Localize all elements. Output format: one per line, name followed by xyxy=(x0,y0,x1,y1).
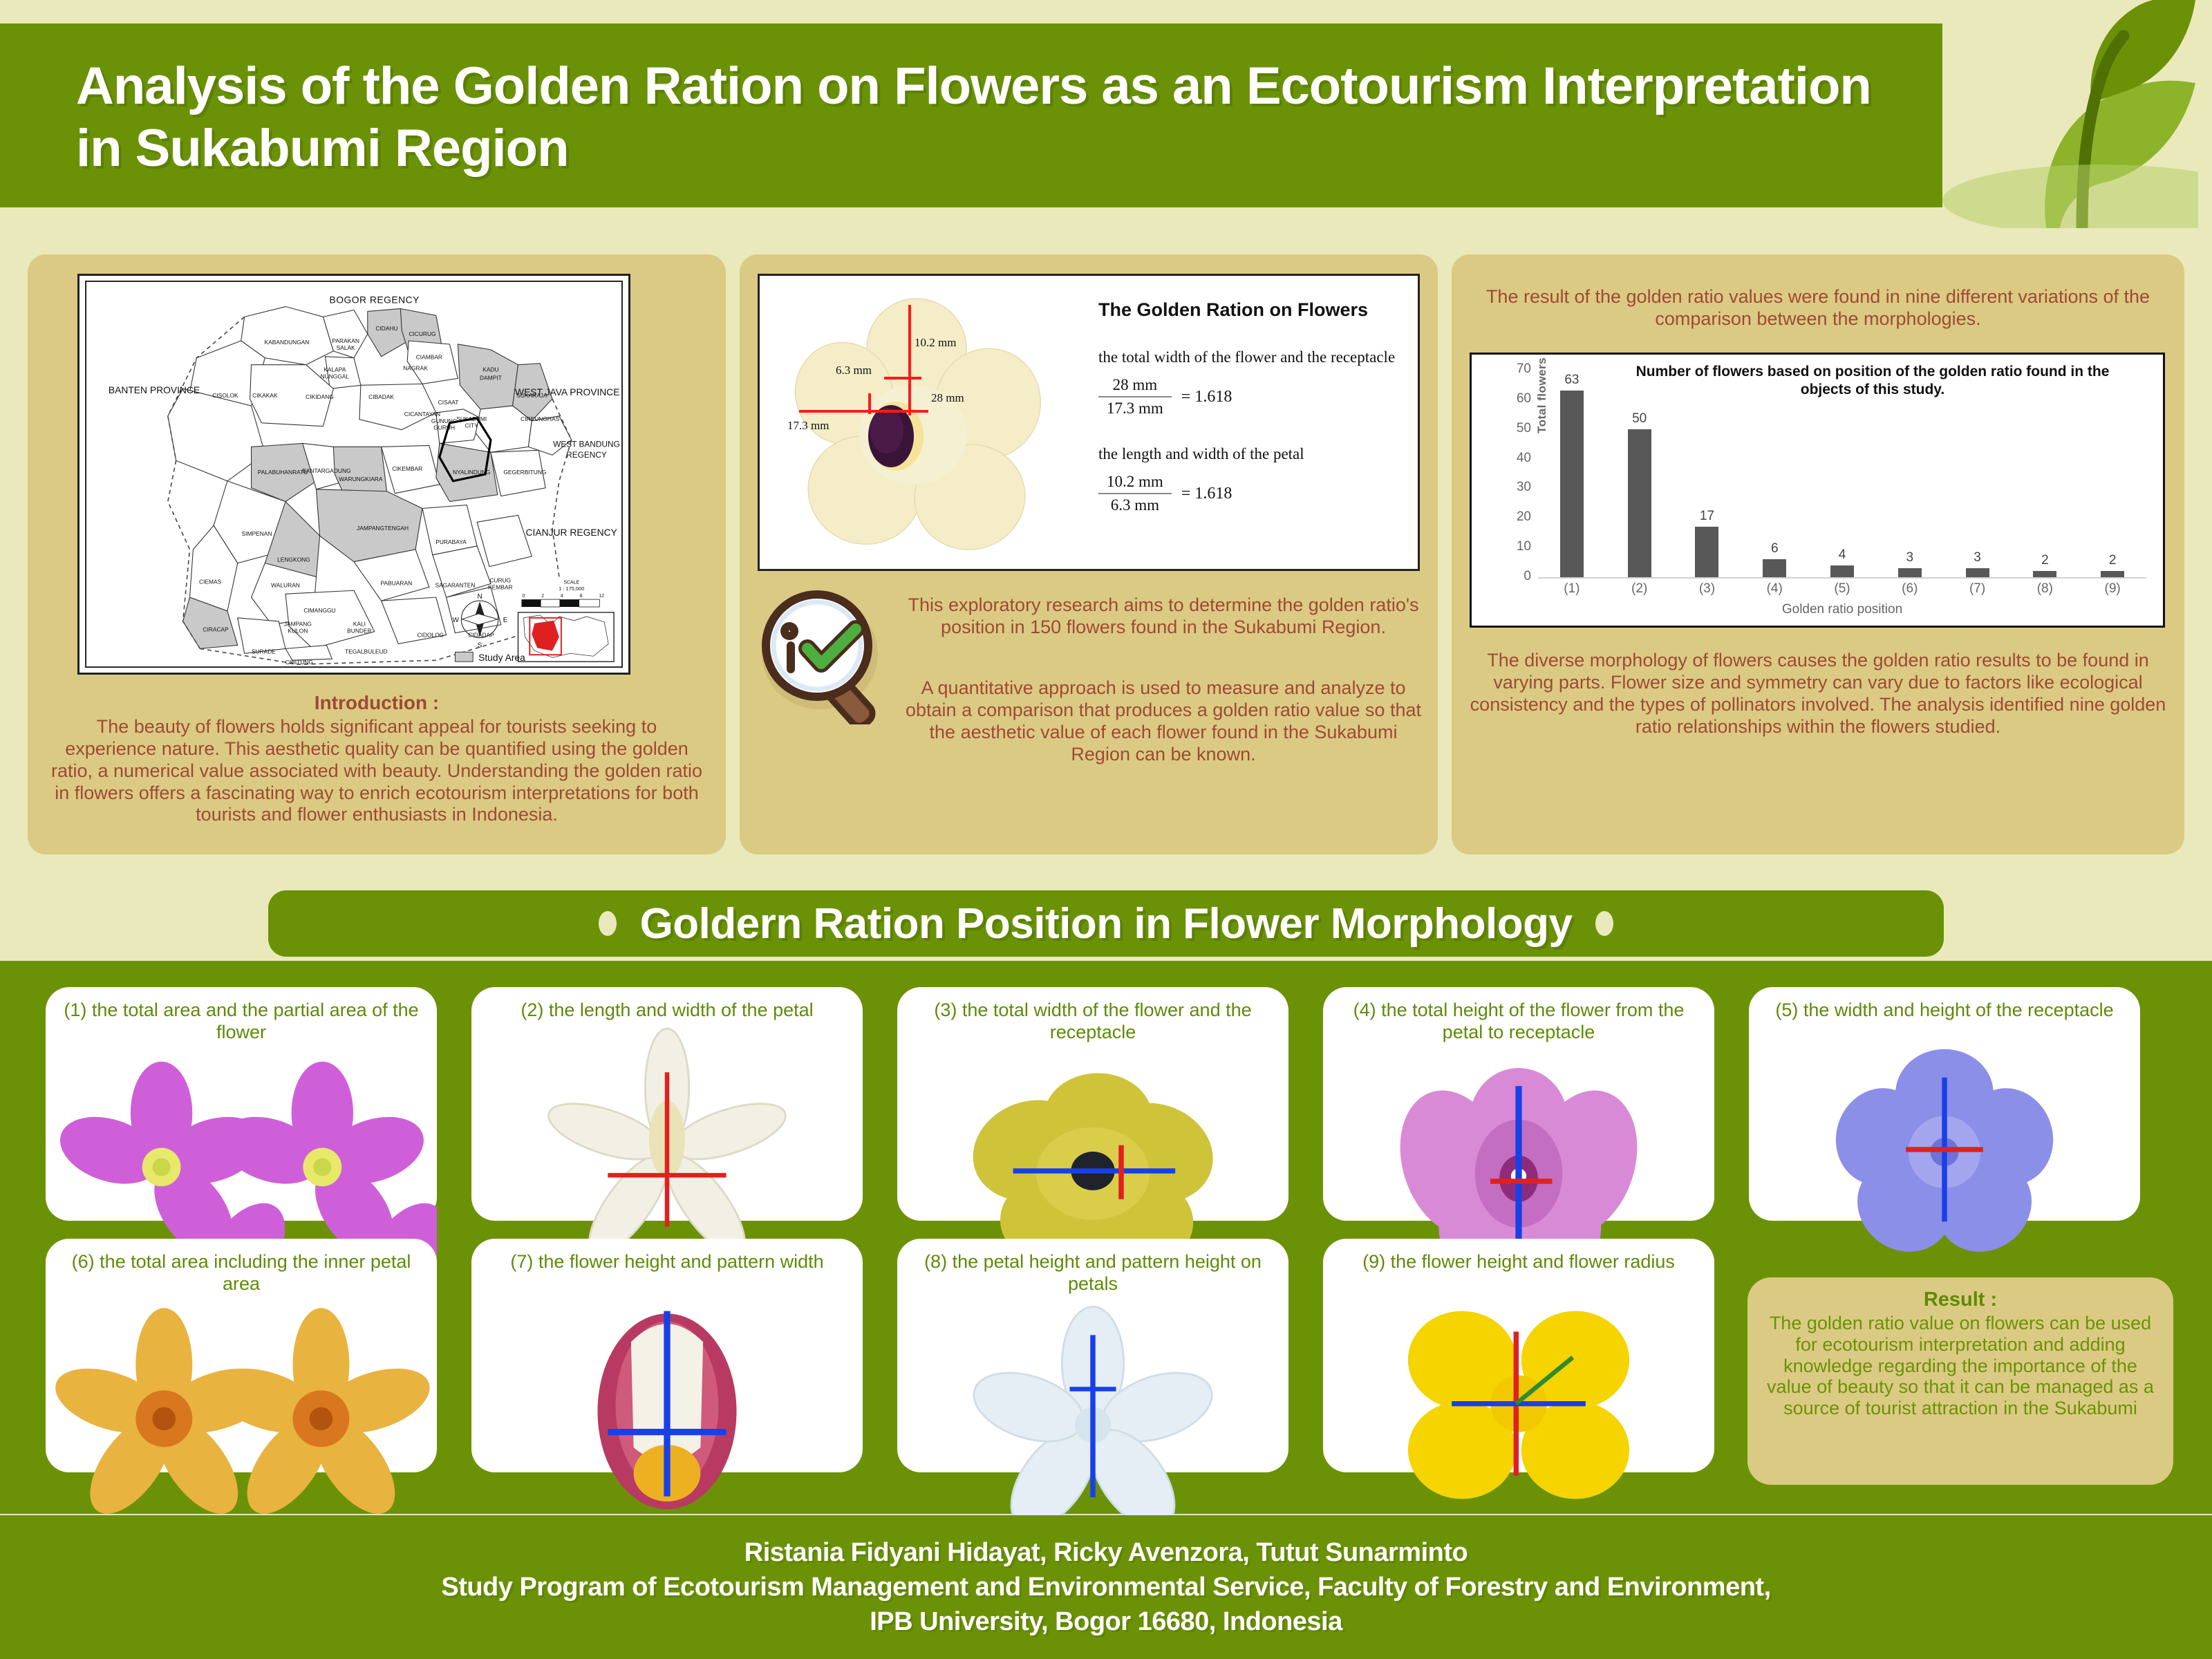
research-method-text: A quantitative approach is used to measu… xyxy=(904,677,1423,765)
svg-text:SIMPENAN: SIMPENAN xyxy=(242,530,272,537)
chart-x-axis xyxy=(1538,577,2146,579)
svg-text:WEST BANDUNG: WEST BANDUNG xyxy=(553,439,620,449)
chart-bar-value: 6 xyxy=(1771,541,1779,556)
chart-bar-slot: 63 xyxy=(1538,370,1606,577)
chart-x-tick: (4) xyxy=(1741,581,1808,597)
flower-card-title: (2) the length and width of the petal xyxy=(483,1000,851,1022)
chart-x-tick: (6) xyxy=(1876,581,1944,597)
chart-x-axis-label: Golden ratio position xyxy=(1538,602,2146,617)
golden-ratio-diagram: 10.2 mm 6.3 mm 28 mm 17.3 mm The Golden … xyxy=(758,274,1420,571)
right-panel-top-text: The result of the golden ratio values we… xyxy=(1468,286,2168,330)
chart-bar-slot: 6 xyxy=(1741,370,1808,577)
chart-x-tick: (9) xyxy=(2079,581,2146,597)
svg-text:LENGKONG: LENGKONG xyxy=(277,556,310,563)
svg-text:8: 8 xyxy=(580,594,583,599)
footer-university: IPB University, Bogor 16680, Indonesia xyxy=(870,1604,1342,1639)
svg-text:S: S xyxy=(478,641,482,649)
flower-card[interactable]: (7) the flower height and pattern width … xyxy=(471,1239,863,1472)
chart-x-tick: (7) xyxy=(1944,581,2012,597)
svg-text:BUNDER: BUNDER xyxy=(347,628,371,635)
svg-text:SCALE: SCALE xyxy=(563,580,579,585)
svg-text:CIMANGGU: CIMANGGU xyxy=(303,607,335,614)
poster-root: Analysis of the Golden Ration on Flowers… xyxy=(0,0,2212,1659)
chart-bar xyxy=(1966,568,1989,577)
svg-text:KADU: KADU xyxy=(482,366,498,373)
chart-bar xyxy=(1898,568,1922,577)
svg-text:DAMPIT: DAMPIT xyxy=(480,374,502,381)
svg-text:CICURUG: CICURUG xyxy=(409,330,435,337)
chart-bar-slot: 2 xyxy=(2079,370,2146,577)
svg-text:BOGOR REGENCY: BOGOR REGENCY xyxy=(330,294,420,306)
flower-card-title: (8) the petal height and pattern height … xyxy=(909,1251,1277,1295)
flower-card[interactable]: (2) the length and width of the petal Ca… xyxy=(471,987,863,1221)
flower-card[interactable]: (3) the total width of the flower and th… xyxy=(897,987,1288,1221)
chart-bar xyxy=(1560,391,1584,577)
svg-text:TEGALBULEUD: TEGALBULEUD xyxy=(345,648,388,655)
svg-text:GURUH: GURUH xyxy=(433,424,455,431)
svg-text:NUNGGAL: NUNGGAL xyxy=(321,373,350,379)
chart-y-tick: 60 xyxy=(1501,391,1531,406)
chart-bar-slot: 17 xyxy=(1674,370,1741,577)
flower-card[interactable]: (6) the total area including the inner p… xyxy=(46,1239,437,1472)
chart-y-tick: 0 xyxy=(1501,569,1531,584)
ratio2-fraction: 10.2 mm 6.3 mm = 1.618 xyxy=(1098,473,1409,514)
ratio2-numerator: 10.2 mm xyxy=(1098,473,1172,493)
svg-text:PALABUHANRATU: PALABUHANRATU xyxy=(258,469,308,476)
chart-bar-value: 50 xyxy=(1632,411,1647,427)
svg-text:KABANDUNGAN: KABANDUNGAN xyxy=(265,339,310,346)
flower-card-title: (5) the width and height of the receptac… xyxy=(1761,1000,2128,1022)
chart-bar-value: 63 xyxy=(1564,373,1579,388)
flower-card[interactable]: (8) the petal height and pattern height … xyxy=(897,1239,1288,1472)
chart-bar-slot: 4 xyxy=(1808,370,1876,577)
chart-y-tick: 20 xyxy=(1501,509,1531,525)
svg-text:E: E xyxy=(503,617,508,624)
svg-text:W: W xyxy=(453,617,460,624)
ratio1-equals: = 1.618 xyxy=(1181,388,1232,406)
svg-text:WARUNGKIARA: WARUNGKIARA xyxy=(339,476,383,482)
introduction-body: The beauty of flowers holds significant … xyxy=(48,716,705,826)
svg-text:CIBITUNG: CIBITUNG xyxy=(285,659,313,666)
ludwigia-peruviana-flower-photo xyxy=(1323,1273,1714,1534)
chart-x-tick: (1) xyxy=(1538,581,1606,597)
svg-text:CISAAT: CISAAT xyxy=(438,399,459,406)
svg-text:CIANJUR REGENCY: CIANJUR REGENCY xyxy=(526,527,617,538)
flower-card[interactable]: (5) the width and height of the receptac… xyxy=(1749,987,2140,1221)
flower-card-title: (1) the total area and the partial area … xyxy=(57,1000,425,1043)
svg-text:KULON: KULON xyxy=(288,628,308,635)
chart-y-tick: 30 xyxy=(1501,480,1531,495)
svg-text:CIKIDANG: CIKIDANG xyxy=(306,393,334,400)
footer-authors: Ristania Fidyani Hidayat, Ricky Avenzora… xyxy=(744,1535,1468,1570)
banner-dot-left-icon xyxy=(599,911,617,936)
svg-text:6.3 mm: 6.3 mm xyxy=(836,364,872,377)
map-legend: Study Area xyxy=(455,652,525,663)
chart-x-tick: (8) xyxy=(2011,581,2079,597)
ratio1-numerator: 28 mm xyxy=(1098,376,1172,396)
ratio1-fraction: 28 mm 17.3 mm = 1.618 xyxy=(1098,376,1409,418)
svg-text:CIDOLOG: CIDOLOG xyxy=(417,632,444,639)
chart-y-tick: 50 xyxy=(1501,421,1531,436)
svg-text:CIAMBAR: CIAMBAR xyxy=(416,354,442,361)
svg-text:N: N xyxy=(478,593,482,601)
svg-text:NYALINDUNG: NYALINDUNG xyxy=(453,469,491,476)
golden-ratio-text: The Golden Ration on Flowers the total w… xyxy=(1098,299,1409,514)
ratio2-equals: = 1.618 xyxy=(1181,485,1232,503)
panel-results-chart: The result of the golden ratio values we… xyxy=(1452,254,2184,854)
magnifier-checkmark-icon xyxy=(753,579,906,724)
flower-card-title: (9) the flower height and flower radius xyxy=(1335,1251,1703,1273)
svg-text:KEMBAR: KEMBAR xyxy=(488,583,513,590)
svg-text:PURABAYA: PURABAYA xyxy=(435,538,467,545)
flower-card-title: (6) the total area including the inner p… xyxy=(57,1251,425,1295)
chart-bars: 635017643322 xyxy=(1538,370,2146,577)
svg-text:0: 0 xyxy=(523,594,525,599)
svg-text:JAMPANGTENGAH: JAMPANGTENGAH xyxy=(357,525,409,532)
right-panel-bottom-text: The diverse morphology of flowers causes… xyxy=(1468,650,2168,738)
svg-text:PABUARAN: PABUARAN xyxy=(381,579,413,586)
turnera-flower-photo: 10.2 mm 6.3 mm 28 mm 17.3 mm xyxy=(768,283,1093,566)
chart-bar-value: 4 xyxy=(1839,547,1846,563)
ratio1-denominator: 17.3 mm xyxy=(1098,396,1172,418)
svg-text:KALI: KALI xyxy=(353,621,366,628)
study-area-map: BOGOR REGENCY BANTEN PROVINCE WEST JAVA … xyxy=(77,274,630,675)
ratio2-denominator: 6.3 mm xyxy=(1098,493,1172,514)
chart-y-tick: 40 xyxy=(1501,451,1531,466)
svg-text:4: 4 xyxy=(561,594,563,599)
chart-bar xyxy=(1628,429,1651,577)
svg-text:2: 2 xyxy=(541,594,544,599)
svg-text:GUNUNG: GUNUNG xyxy=(431,418,457,424)
flower-card[interactable]: (1) the total area and the partial area … xyxy=(46,987,437,1221)
chart-bar-value: 3 xyxy=(1906,550,1914,565)
svg-text:CIRACAP: CIRACAP xyxy=(203,626,229,633)
chart-bar-slot: 50 xyxy=(1606,370,1674,577)
section-title: Goldern Ration Position in Flower Morpho… xyxy=(640,899,1573,948)
svg-text:SURADE: SURADE xyxy=(252,648,276,655)
map-svg: BOGOR REGENCY BANTEN PROVINCE WEST JAVA … xyxy=(79,276,628,673)
golden-ratio-bar-chart: Number of flowers based on position of t… xyxy=(1470,353,2165,628)
svg-text:WALURAN: WALURAN xyxy=(271,581,300,588)
chart-x-ticks: (1)(2)(3)(4)(5)(6)(7)(8)(9) xyxy=(1538,581,2146,597)
svg-text:SAGARANTEN: SAGARANTEN xyxy=(435,581,476,588)
chart-bar-value: 3 xyxy=(1974,550,1981,565)
svg-text:SALAK: SALAK xyxy=(337,344,355,351)
diagram-title: The Golden Ration on Flowers xyxy=(1098,299,1409,321)
svg-text:SUKARAJA: SUKARAJA xyxy=(516,392,547,399)
flower-card-title: (7) the flower height and pattern width xyxy=(483,1251,851,1273)
svg-text:CIEMAS: CIEMAS xyxy=(199,578,222,585)
chart-y-tick: 10 xyxy=(1501,539,1531,554)
panel-introduction: BOGOR REGENCY BANTEN PROVINCE WEST JAVA … xyxy=(28,254,726,854)
inset-locator-map xyxy=(518,612,615,662)
svg-text:CICANTAYAN: CICANTAYAN xyxy=(404,411,440,418)
svg-text:JAMPANG: JAMPANG xyxy=(284,621,312,628)
svg-text:BANTEN PROVINCE: BANTEN PROVINCE xyxy=(109,384,200,395)
chart-y-tick: 70 xyxy=(1501,362,1531,377)
chart-bar xyxy=(1695,527,1718,577)
svg-text:CIKEMBAR: CIKEMBAR xyxy=(392,465,422,472)
svg-text:CITY: CITY xyxy=(465,422,479,429)
chart-bar-value: 17 xyxy=(1700,509,1714,524)
banner-dot-right-icon xyxy=(1595,911,1613,936)
footer-affiliation: Study Program of Ecotourism Management a… xyxy=(441,1570,1770,1604)
svg-text:17.3 mm: 17.3 mm xyxy=(787,419,829,432)
chart-bar xyxy=(1763,559,1786,577)
chart-plot-area: Total flowers 706050403020100 6350176433… xyxy=(1538,370,2146,577)
chart-x-tick: (5) xyxy=(1808,581,1876,597)
svg-text:CIBADAK: CIBADAK xyxy=(368,393,394,400)
ruellia-tuberosa-flower-photo xyxy=(1749,1022,2140,1282)
svg-text:BANTARGADUNG: BANTARGADUNG xyxy=(302,467,350,474)
svg-text:12: 12 xyxy=(599,594,604,599)
svg-text:CIKAKAK: CIKAKAK xyxy=(252,392,278,399)
page-title: Analysis of the Golden Ration on Flowers… xyxy=(76,55,1873,179)
flower-card-title: (4) the total height of the flower from … xyxy=(1335,1000,1703,1043)
chart-bar xyxy=(1830,565,1854,577)
chart-bar xyxy=(2101,571,2124,577)
chart-x-tick: (2) xyxy=(1606,581,1674,597)
svg-text:CIREUNGHAS: CIREUNGHAS xyxy=(521,415,559,422)
result-box: Result : The golden ratio value on flowe… xyxy=(1747,1277,2173,1485)
chart-bar xyxy=(2033,571,2056,577)
svg-text:KALAPA: KALAPA xyxy=(324,366,346,373)
flower-card-title: (3) the total width of the flower and th… xyxy=(909,1000,1277,1043)
footer: Ristania Fidyani Hidayat, Ricky Avenzora… xyxy=(0,1515,2212,1659)
svg-text:PARAKAN: PARAKAN xyxy=(332,337,359,344)
svg-text:NAGRAK: NAGRAK xyxy=(403,365,428,372)
chart-bar-slot: 3 xyxy=(1944,370,2012,577)
svg-text:1 : 175,000: 1 : 175,000 xyxy=(559,585,584,592)
svg-text:GEGERBITUNG: GEGERBITUNG xyxy=(503,469,546,476)
svg-text:CIDAHU: CIDAHU xyxy=(375,325,397,332)
ratio1-caption: the total width of the flower and the re… xyxy=(1098,348,1409,366)
svg-text:CISOLOK: CISOLOK xyxy=(212,392,238,399)
svg-text:Study Area: Study Area xyxy=(478,652,525,663)
svg-text:CURUG: CURUG xyxy=(489,577,511,583)
svg-text:REGENCY: REGENCY xyxy=(566,450,607,460)
chart-bar-slot: 3 xyxy=(1876,370,1944,577)
section-banner: Goldern Ration Position in Flower Morpho… xyxy=(268,890,1944,957)
flower-card[interactable]: (9) the flower height and flower radius … xyxy=(1323,1239,1714,1472)
research-aim-text: This exploratory research aims to determ… xyxy=(904,594,1423,639)
flower-card[interactable]: (4) the total height of the flower from … xyxy=(1323,987,1714,1221)
chart-x-tick: (3) xyxy=(1674,581,1741,597)
sprout-leaf-icon xyxy=(1811,0,2198,228)
svg-text:SUKABUMI: SUKABUMI xyxy=(456,415,487,422)
introduction-heading: Introduction : xyxy=(48,691,705,714)
result-text: The golden ratio value on flowers can be… xyxy=(1761,1313,2159,1419)
chart-bar-value: 2 xyxy=(2041,553,2049,568)
svg-text:10.2 mm: 10.2 mm xyxy=(915,336,956,349)
result-heading: Result : xyxy=(1761,1288,2159,1311)
svg-text:28 mm: 28 mm xyxy=(931,391,964,404)
ratio2-caption: the length and width of the petal xyxy=(1098,445,1409,463)
panel-golden-ratio: 10.2 mm 6.3 mm 28 mm 17.3 mm The Golden … xyxy=(740,254,1438,854)
chart-bar-slot: 2 xyxy=(2011,370,2079,577)
chart-bar-value: 2 xyxy=(2109,553,2117,568)
costus-afer-flower-photo xyxy=(471,1273,863,1534)
